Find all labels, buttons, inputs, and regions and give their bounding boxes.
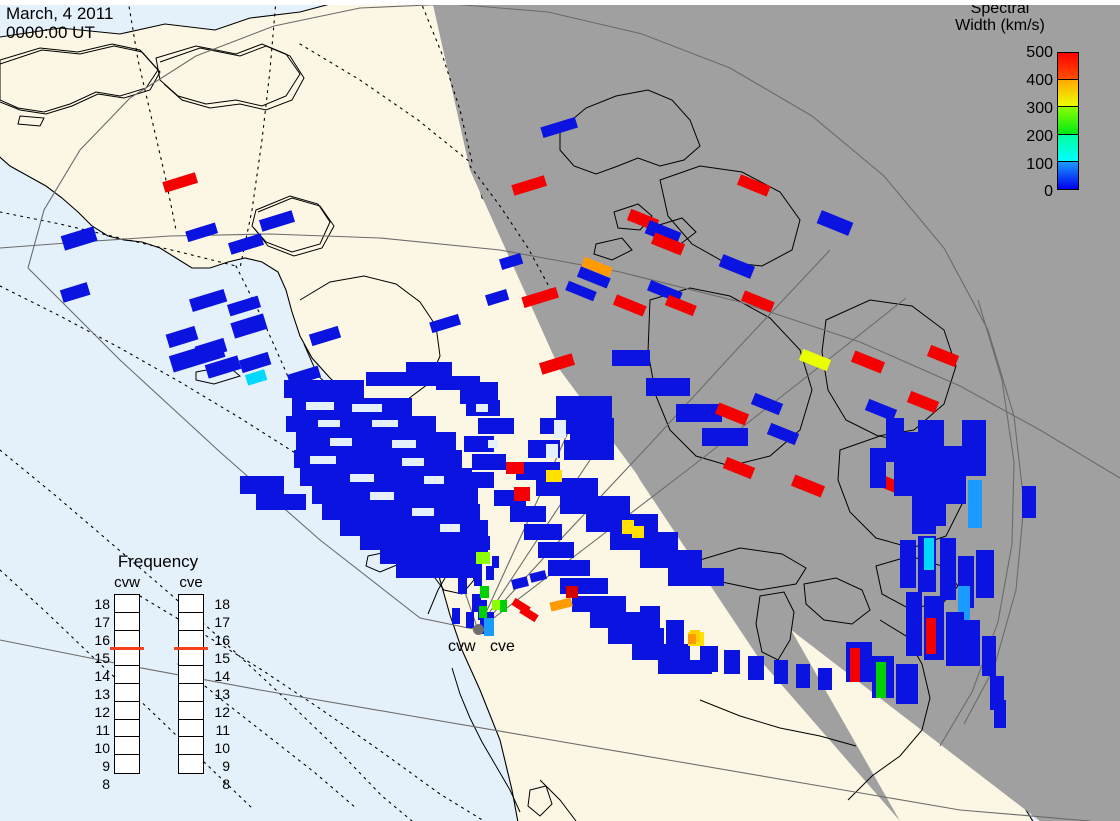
freq-marker-cvw	[110, 647, 144, 650]
frequency-legend: Frequency cvw cve	[88, 552, 228, 780]
freq-tick	[115, 737, 139, 755]
freq-tick	[179, 648, 203, 666]
freq-tick	[179, 755, 203, 773]
colorbar-tick-0: 0	[1044, 184, 1053, 200]
freq-scale-right-11: 11	[208, 723, 230, 737]
freq-tick	[179, 702, 203, 720]
freq-tick	[179, 737, 203, 755]
freq-scale-left-9: 9	[88, 759, 110, 773]
freq-scale-right-13: 13	[208, 687, 230, 701]
freq-tick	[115, 631, 139, 649]
station-label-cvw: cvw	[448, 638, 476, 656]
frequency-legend-title: Frequency	[88, 552, 228, 572]
colorbar-title: Spectral Width (km/s)	[880, 0, 1120, 34]
freq-scale-left-16: 16	[88, 633, 110, 647]
colorbar-tick-400: 400	[1026, 73, 1053, 89]
freq-scale-right-9: 9	[208, 759, 230, 773]
superdarn-map-figure: March, 4 2011 0000:00 UT Spectral Width …	[0, 0, 1120, 821]
freq-tick	[179, 720, 203, 738]
colorbar-tick-100: 100	[1026, 157, 1053, 173]
freq-tick	[115, 755, 139, 773]
freq-scale-left-8: 8	[88, 777, 110, 791]
freq-tick	[115, 702, 139, 720]
colorbar-segment-100-200	[1058, 135, 1078, 162]
freq-tick	[115, 666, 139, 684]
freq-tick	[115, 720, 139, 738]
colorbar-segment-300-400	[1058, 80, 1078, 107]
top-white-strip	[0, 0, 1120, 5]
freq-scale-left-11: 11	[88, 723, 110, 737]
freq-scale-right-8: 8	[208, 777, 230, 791]
colorbar-title-line2: Width (km/s)	[880, 17, 1120, 34]
freq-scale-left-14: 14	[88, 669, 110, 683]
echo-group-central	[464, 350, 748, 674]
echo-group-west-blob	[240, 362, 498, 578]
freq-tick	[179, 666, 203, 684]
freq-scale-left-15: 15	[88, 651, 110, 665]
freq-tick	[115, 648, 139, 666]
freq-scale-right-14: 14	[208, 669, 230, 683]
freq-tick	[115, 595, 139, 613]
colorbar-segment-200-300	[1058, 107, 1078, 134]
freq-scale-right-18: 18	[208, 597, 230, 611]
freq-column-header-cvw: cvw	[104, 574, 150, 591]
radar-site-marker	[473, 624, 484, 635]
freq-tick	[179, 595, 203, 613]
colorbar-segment-400-500	[1058, 53, 1078, 80]
freq-tick	[179, 684, 203, 702]
freq-scale-left-12: 12	[88, 705, 110, 719]
freq-scale-right-17: 17	[208, 615, 230, 629]
station-label-cve: cve	[490, 638, 515, 656]
date-line: March, 4 2011	[6, 4, 113, 23]
echo-group-northwest	[60, 117, 578, 386]
freq-tick	[115, 613, 139, 631]
freq-tick	[179, 631, 203, 649]
freq-bar-cve	[178, 594, 204, 774]
colorbar-gradient	[1057, 52, 1079, 190]
freq-tick	[115, 684, 139, 702]
freq-scale-right-10: 10	[208, 741, 230, 755]
freq-scale-right-12: 12	[208, 705, 230, 719]
freq-marker-cve	[174, 647, 208, 650]
colorbar-panel: Spectral Width (km/s) 500 400 300 200 10…	[880, 0, 1120, 215]
freq-scale-left-17: 17	[88, 615, 110, 629]
echo-group-east-cluster	[846, 418, 1036, 728]
time-line: 0000:00 UT	[6, 23, 113, 42]
freq-tick	[179, 613, 203, 631]
colorbar-tick-300: 300	[1026, 101, 1053, 117]
freq-column-header-cve: cve	[168, 574, 214, 591]
colorbar-segment-0-100	[1058, 162, 1078, 189]
freq-bar-cvw	[114, 594, 140, 774]
freq-scale-left-10: 10	[88, 741, 110, 755]
freq-scale-right-16: 16	[208, 633, 230, 647]
freq-scale-left-13: 13	[88, 687, 110, 701]
colorbar-tick-200: 200	[1026, 129, 1053, 145]
freq-scale-right-15: 15	[208, 651, 230, 665]
freq-scale-left-18: 18	[88, 597, 110, 611]
colorbar-tick-500: 500	[1026, 45, 1053, 61]
timestamp-label: March, 4 2011 0000:00 UT	[6, 4, 113, 42]
